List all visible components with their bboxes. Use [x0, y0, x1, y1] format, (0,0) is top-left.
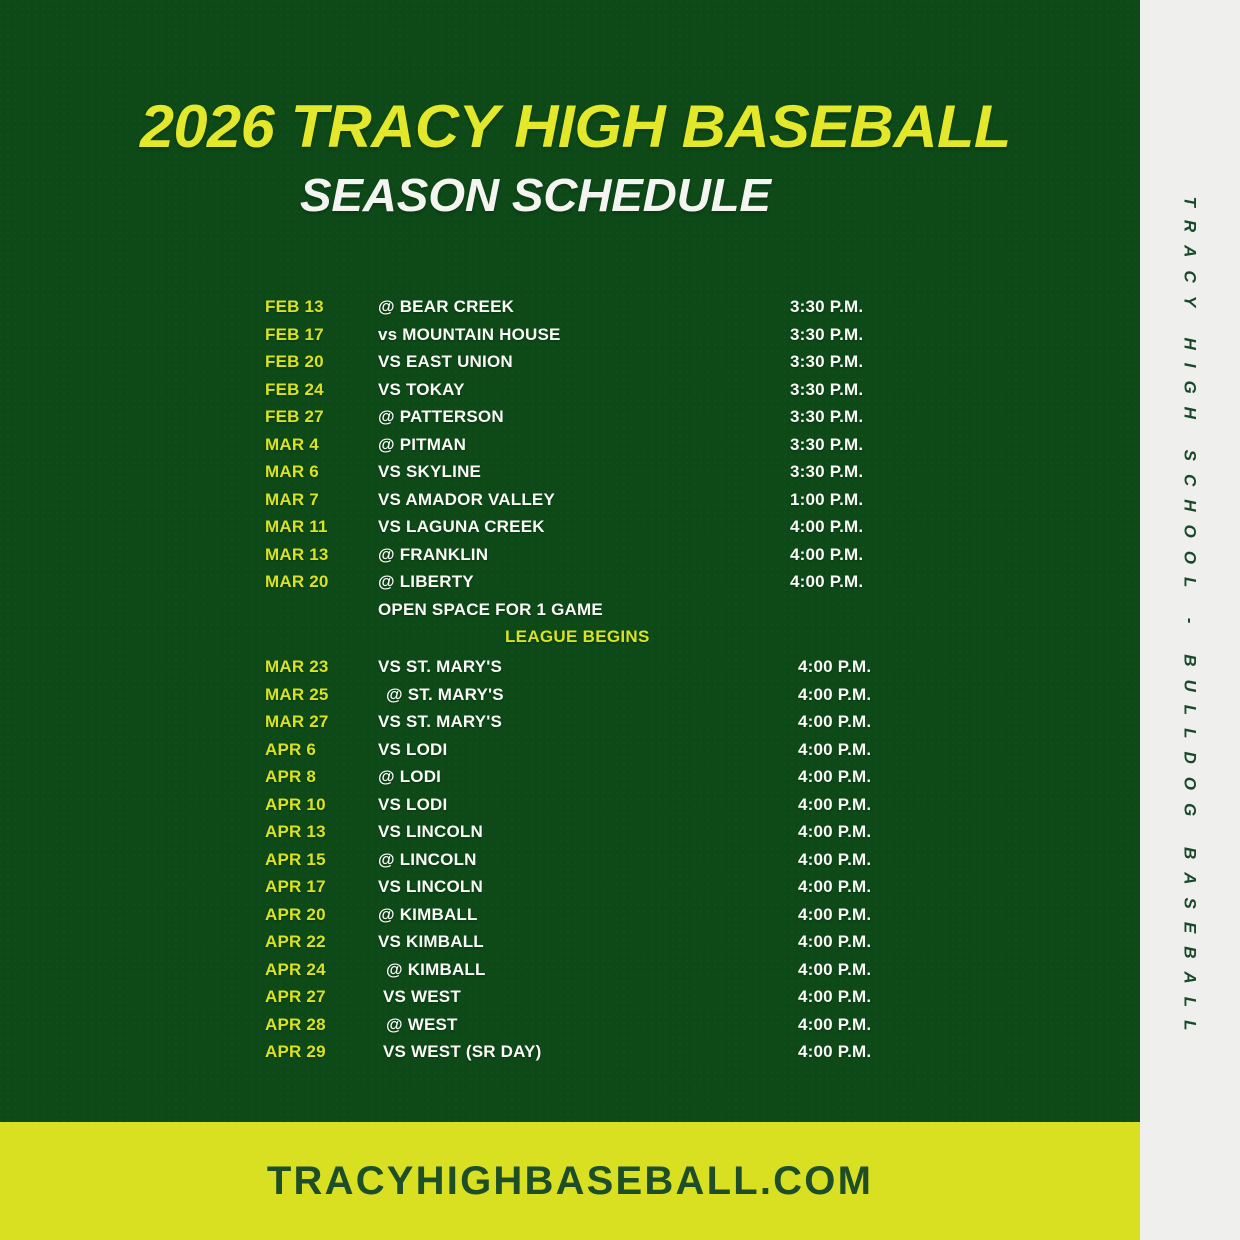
game-time: 3:30 P.M. — [790, 325, 863, 345]
page-title: 2026 TRACY HIGH BASEBALL — [140, 92, 1011, 161]
game-date: APR 10 — [265, 795, 326, 815]
game-date: MAR 4 — [265, 435, 319, 455]
schedule-row: APR 15@ LINCOLN4:00 P.M. — [0, 850, 1140, 878]
game-time: 4:00 P.M. — [798, 822, 871, 842]
game-opponent: VS LAGUNA CREEK — [378, 517, 545, 537]
game-date: APR 17 — [265, 877, 326, 897]
game-time: 4:00 P.M. — [798, 767, 871, 787]
game-opponent: VS LODI — [378, 795, 447, 815]
schedule-row: MAR 13@ FRANKLIN4:00 P.M. — [0, 545, 1140, 573]
game-date: APR 20 — [265, 905, 326, 925]
game-time: 1:00 P.M. — [790, 490, 863, 510]
schedule-row: FEB 17vs MOUNTAIN HOUSE3:30 P.M. — [0, 325, 1140, 353]
open-space-note-label: OPEN SPACE FOR 1 GAME — [378, 600, 603, 620]
game-time: 3:30 P.M. — [790, 297, 863, 317]
game-time: 4:00 P.M. — [798, 712, 871, 732]
game-time: 4:00 P.M. — [798, 1042, 871, 1062]
game-date: APR 15 — [265, 850, 326, 870]
game-opponent: @ KIMBALL — [378, 905, 478, 925]
schedule-row: MAR 27VS ST. MARY'S4:00 P.M. — [0, 712, 1140, 740]
game-opponent: VS ST. MARY'S — [378, 712, 502, 732]
game-opponent: @ PATTERSON — [378, 407, 504, 427]
game-opponent: VS ST. MARY'S — [378, 657, 502, 677]
schedule-row: MAR 4@ PITMAN3:30 P.M. — [0, 435, 1140, 463]
schedule-row: APR 29VS WEST (SR DAY)4:00 P.M. — [0, 1042, 1140, 1070]
game-opponent: @ LINCOLN — [378, 850, 477, 870]
schedule-row: MAR 25@ ST. MARY'S4:00 P.M. — [0, 685, 1140, 713]
game-date: APR 8 — [265, 767, 316, 787]
game-date: MAR 6 — [265, 462, 319, 482]
schedule-row: MAR 23VS ST. MARY'S4:00 P.M. — [0, 657, 1140, 685]
schedule-row: MAR 7VS AMADOR VALLEY1:00 P.M. — [0, 490, 1140, 518]
schedule-row: FEB 20VS EAST UNION3:30 P.M. — [0, 352, 1140, 380]
game-time: 4:00 P.M. — [790, 517, 863, 537]
schedule-row: APR 28@ WEST4:00 P.M. — [0, 1015, 1140, 1043]
game-opponent: vs MOUNTAIN HOUSE — [378, 325, 561, 345]
schedule-list: FEB 13@ BEAR CREEK3:30 P.M.FEB 17vs MOUN… — [0, 297, 1140, 1070]
game-time: 3:30 P.M. — [790, 462, 863, 482]
sidebar-vertical-banner: TRACY HIGH SCHOOL - BULLDOG BASEBALL — [1140, 0, 1240, 1240]
game-date: FEB 17 — [265, 325, 324, 345]
game-date: FEB 24 — [265, 380, 324, 400]
game-time: 4:00 P.M. — [798, 1015, 871, 1035]
game-time: 4:00 P.M. — [790, 545, 863, 565]
schedule-poster: 2026 TRACY HIGH BASEBALL SEASON SCHEDULE… — [0, 0, 1240, 1240]
game-date: MAR 27 — [265, 712, 329, 732]
schedule-row: FEB 27@ PATTERSON3:30 P.M. — [0, 407, 1140, 435]
game-time: 4:00 P.M. — [798, 685, 871, 705]
schedule-row: MAR 6VS SKYLINE3:30 P.M. — [0, 462, 1140, 490]
game-opponent: @ FRANKLIN — [378, 545, 488, 565]
game-date: FEB 20 — [265, 352, 324, 372]
game-opponent: @ LIBERTY — [378, 572, 474, 592]
game-date: APR 29 — [265, 1042, 326, 1062]
game-date: APR 6 — [265, 740, 316, 760]
game-time: 3:30 P.M. — [790, 380, 863, 400]
game-time: 4:00 P.M. — [798, 657, 871, 677]
footer-bar: TRACYHIGHBASEBALL.COM — [0, 1122, 1140, 1240]
schedule-row: APR 22VS KIMBALL4:00 P.M. — [0, 932, 1140, 960]
game-opponent: @ LODI — [378, 767, 441, 787]
game-opponent: VS LINCOLN — [378, 822, 483, 842]
game-opponent: @ WEST — [386, 1015, 458, 1035]
poster-main-panel: 2026 TRACY HIGH BASEBALL SEASON SCHEDULE… — [0, 0, 1140, 1122]
game-date: APR 24 — [265, 960, 326, 980]
schedule-row: APR 10VS LODI4:00 P.M. — [0, 795, 1140, 823]
schedule-row: APR 17VS LINCOLN4:00 P.M. — [0, 877, 1140, 905]
league-begins-label: LEAGUE BEGINS — [505, 627, 650, 647]
schedule-row: FEB 24VS TOKAY3:30 P.M. — [0, 380, 1140, 408]
game-date: MAR 23 — [265, 657, 329, 677]
game-date: APR 22 — [265, 932, 326, 952]
game-opponent: @ KIMBALL — [386, 960, 486, 980]
game-opponent: @ BEAR CREEK — [378, 297, 514, 317]
game-opponent: VS EAST UNION — [378, 352, 513, 372]
game-opponent: VS TOKAY — [378, 380, 465, 400]
game-date: APR 28 — [265, 1015, 326, 1035]
game-opponent: VS SKYLINE — [378, 462, 481, 482]
game-date: MAR 7 — [265, 490, 319, 510]
game-opponent: @ ST. MARY'S — [386, 685, 504, 705]
open-space-note: OPEN SPACE FOR 1 GAME — [0, 600, 1140, 628]
game-time: 4:00 P.M. — [798, 905, 871, 925]
game-opponent: VS WEST (SR DAY) — [383, 1042, 541, 1062]
game-date: MAR 13 — [265, 545, 329, 565]
game-date: MAR 11 — [265, 517, 328, 537]
game-time: 3:30 P.M. — [790, 435, 863, 455]
game-time: 3:30 P.M. — [790, 407, 863, 427]
game-time: 4:00 P.M. — [798, 877, 871, 897]
game-opponent: VS LODI — [378, 740, 447, 760]
game-date: MAR 20 — [265, 572, 329, 592]
schedule-row: MAR 11VS LAGUNA CREEK4:00 P.M. — [0, 517, 1140, 545]
game-time: 3:30 P.M. — [790, 352, 863, 372]
schedule-row: MAR 20@ LIBERTY4:00 P.M. — [0, 572, 1140, 600]
game-time: 4:00 P.M. — [798, 932, 871, 952]
game-date: FEB 27 — [265, 407, 324, 427]
game-time: 4:00 P.M. — [790, 572, 863, 592]
game-time: 4:00 P.M. — [798, 987, 871, 1007]
schedule-row: APR 6VS LODI4:00 P.M. — [0, 740, 1140, 768]
game-opponent: VS KIMBALL — [378, 932, 484, 952]
website-url[interactable]: TRACYHIGHBASEBALL.COM — [267, 1159, 873, 1204]
schedule-row: APR 20@ KIMBALL4:00 P.M. — [0, 905, 1140, 933]
game-date: MAR 25 — [265, 685, 329, 705]
game-opponent: @ PITMAN — [378, 435, 466, 455]
schedule-row: APR 27VS WEST4:00 P.M. — [0, 987, 1140, 1015]
game-time: 4:00 P.M. — [798, 740, 871, 760]
game-time: 4:00 P.M. — [798, 850, 871, 870]
game-time: 4:00 P.M. — [798, 960, 871, 980]
game-opponent: VS AMADOR VALLEY — [378, 490, 555, 510]
league-begins-banner: LEAGUE BEGINS — [0, 627, 1140, 657]
game-opponent: VS WEST — [383, 987, 461, 1007]
schedule-row: APR 24@ KIMBALL4:00 P.M. — [0, 960, 1140, 988]
page-subtitle: SEASON SCHEDULE — [300, 168, 771, 222]
sidebar-banner-text: TRACY HIGH SCHOOL - BULLDOG BASEBALL — [1180, 196, 1200, 1043]
schedule-row: APR 13VS LINCOLN4:00 P.M. — [0, 822, 1140, 850]
game-date: APR 13 — [265, 822, 326, 842]
game-time: 4:00 P.M. — [798, 795, 871, 815]
game-opponent: VS LINCOLN — [378, 877, 483, 897]
game-date: APR 27 — [265, 987, 326, 1007]
game-date: FEB 13 — [265, 297, 324, 317]
schedule-row: FEB 13@ BEAR CREEK3:30 P.M. — [0, 297, 1140, 325]
schedule-row: APR 8@ LODI4:00 P.M. — [0, 767, 1140, 795]
